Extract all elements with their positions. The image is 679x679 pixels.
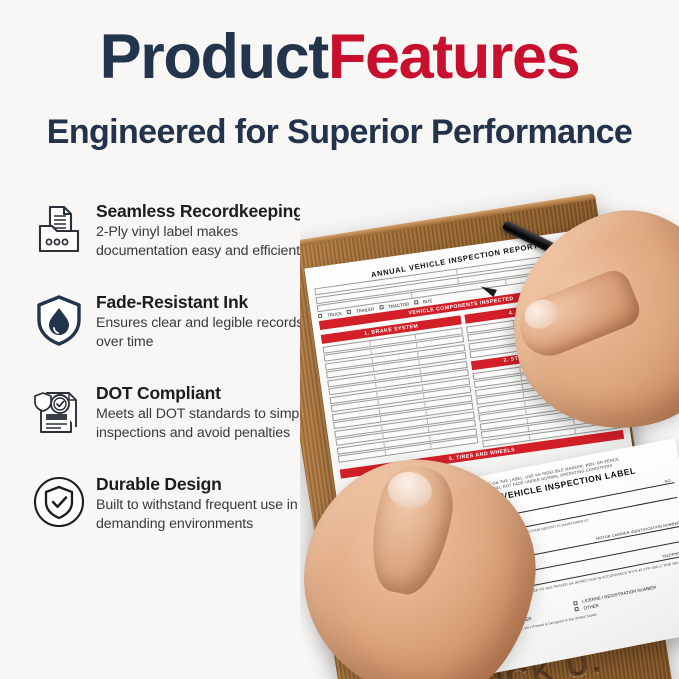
feature-text: Seamless Recordkeeping 2-Ply vinyl label… [96, 192, 304, 261]
shield-droplet-icon [22, 283, 96, 357]
feature-text: Durable Design Built to withstand freque… [96, 465, 298, 534]
feature-title: Durable Design [96, 474, 298, 494]
page-title: ProductFeatures [0, 26, 679, 89]
checkbox-icon[interactable] [414, 300, 419, 305]
feature-title: Seamless Recordkeeping [96, 201, 304, 221]
documents-shield-check-icon [22, 374, 96, 448]
document-in-file-box-icon [22, 192, 96, 266]
title-word-features: Features [328, 22, 579, 92]
feature-title: Fade-Resistant Ink [96, 292, 303, 312]
product-features-image: ProductFeatures Engineered for Superior … [0, 0, 679, 679]
feature-text: Fade-Resistant Ink Ensures clear and leg… [96, 283, 303, 352]
label-field-no: NO. [664, 478, 672, 483]
checkbox-icon[interactable] [379, 305, 384, 310]
report-column-left: 1. BRAKE SYSTEM [320, 313, 479, 467]
feature-desc: Ensures clear and legible records over t… [96, 314, 303, 352]
checkbox-icon[interactable] [574, 607, 579, 612]
feature-text: DOT Compliant Meets all DOT standards to… [96, 374, 316, 443]
checkbox-icon[interactable] [347, 310, 352, 315]
product-photo: BUCK U. ANNUAL VEHICLE INSPECTION REPORT… [300, 160, 679, 679]
checkbox-icon[interactable] [573, 601, 578, 606]
feature-desc: Built to withstand frequent use in deman… [96, 496, 298, 534]
page-subtitle: Engineered for Superior Performance [0, 114, 679, 151]
circle-shield-check-icon [22, 465, 96, 539]
label-field-telephone: TELEPHONE [662, 550, 679, 559]
feature-title: DOT Compliant [96, 383, 316, 403]
title-word-product: Product [100, 22, 328, 92]
feature-desc: Meets all DOT standards to simplify insp… [96, 405, 316, 443]
checkbox-icon[interactable] [318, 314, 323, 319]
feature-desc: 2-Ply vinyl label makes documentation ea… [96, 223, 304, 261]
